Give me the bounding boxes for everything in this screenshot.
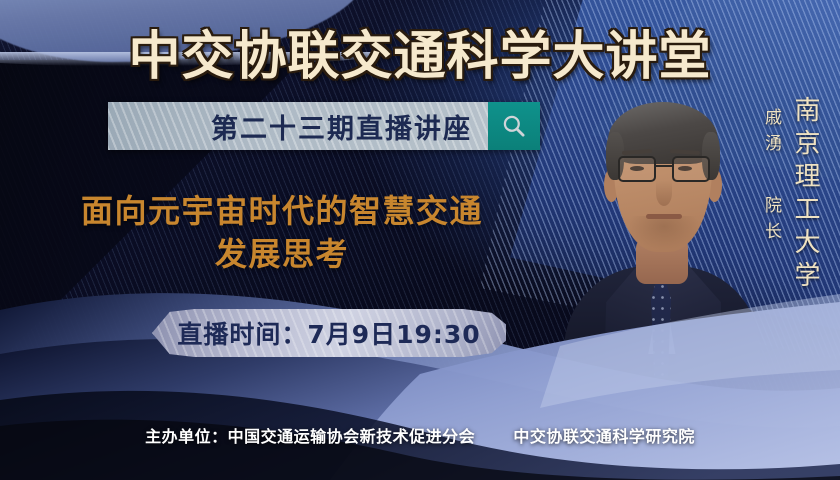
portrait-mouth xyxy=(646,214,682,219)
footer-organizer-primary: 主办单位：中国交通运输协会新技术促进分会 xyxy=(145,427,475,446)
livestream-poster: 中交协联交通科学大讲堂 第二十三期直播讲座 面向元宇宙时代的智慧交通 发展思考 … xyxy=(0,0,840,480)
search-icon-box[interactable] xyxy=(488,102,540,150)
portrait-chin-shadow xyxy=(628,216,700,250)
lecture-title-line2: 发展思考 xyxy=(22,233,542,276)
portrait-lens-right xyxy=(672,156,710,182)
broadcast-time-label: 直播时间：7月9日19:30 xyxy=(177,315,480,351)
speaker-name: 戚湧 xyxy=(759,108,784,160)
portrait-nose xyxy=(656,180,672,206)
speaker-organization: 南京理工大学 xyxy=(787,96,824,294)
lecture-title: 面向元宇宙时代的智慧交通 发展思考 xyxy=(22,190,542,276)
speaker-role: 院长 xyxy=(759,196,784,248)
page-title: 中交协联交通科学大讲堂 xyxy=(0,14,840,89)
footer-organizer-secondary: 中交协联交通科学研究院 xyxy=(513,427,695,446)
search-icon xyxy=(501,113,527,139)
series-bar-label: 第二十三期直播讲座 xyxy=(211,107,472,146)
footer-organizers: 主办单位：中国交通运输协会新技术促进分会 中交协联交通科学研究院 xyxy=(0,423,840,447)
broadcast-time-badge: 直播时间：7月9日19:30 xyxy=(152,309,506,357)
lecture-title-line1: 面向元宇宙时代的智慧交通 xyxy=(81,192,483,230)
series-bar-body: 第二十三期直播讲座 xyxy=(108,102,488,150)
series-bar[interactable]: 第二十三期直播讲座 xyxy=(108,102,540,150)
portrait-lens-left xyxy=(618,156,656,182)
